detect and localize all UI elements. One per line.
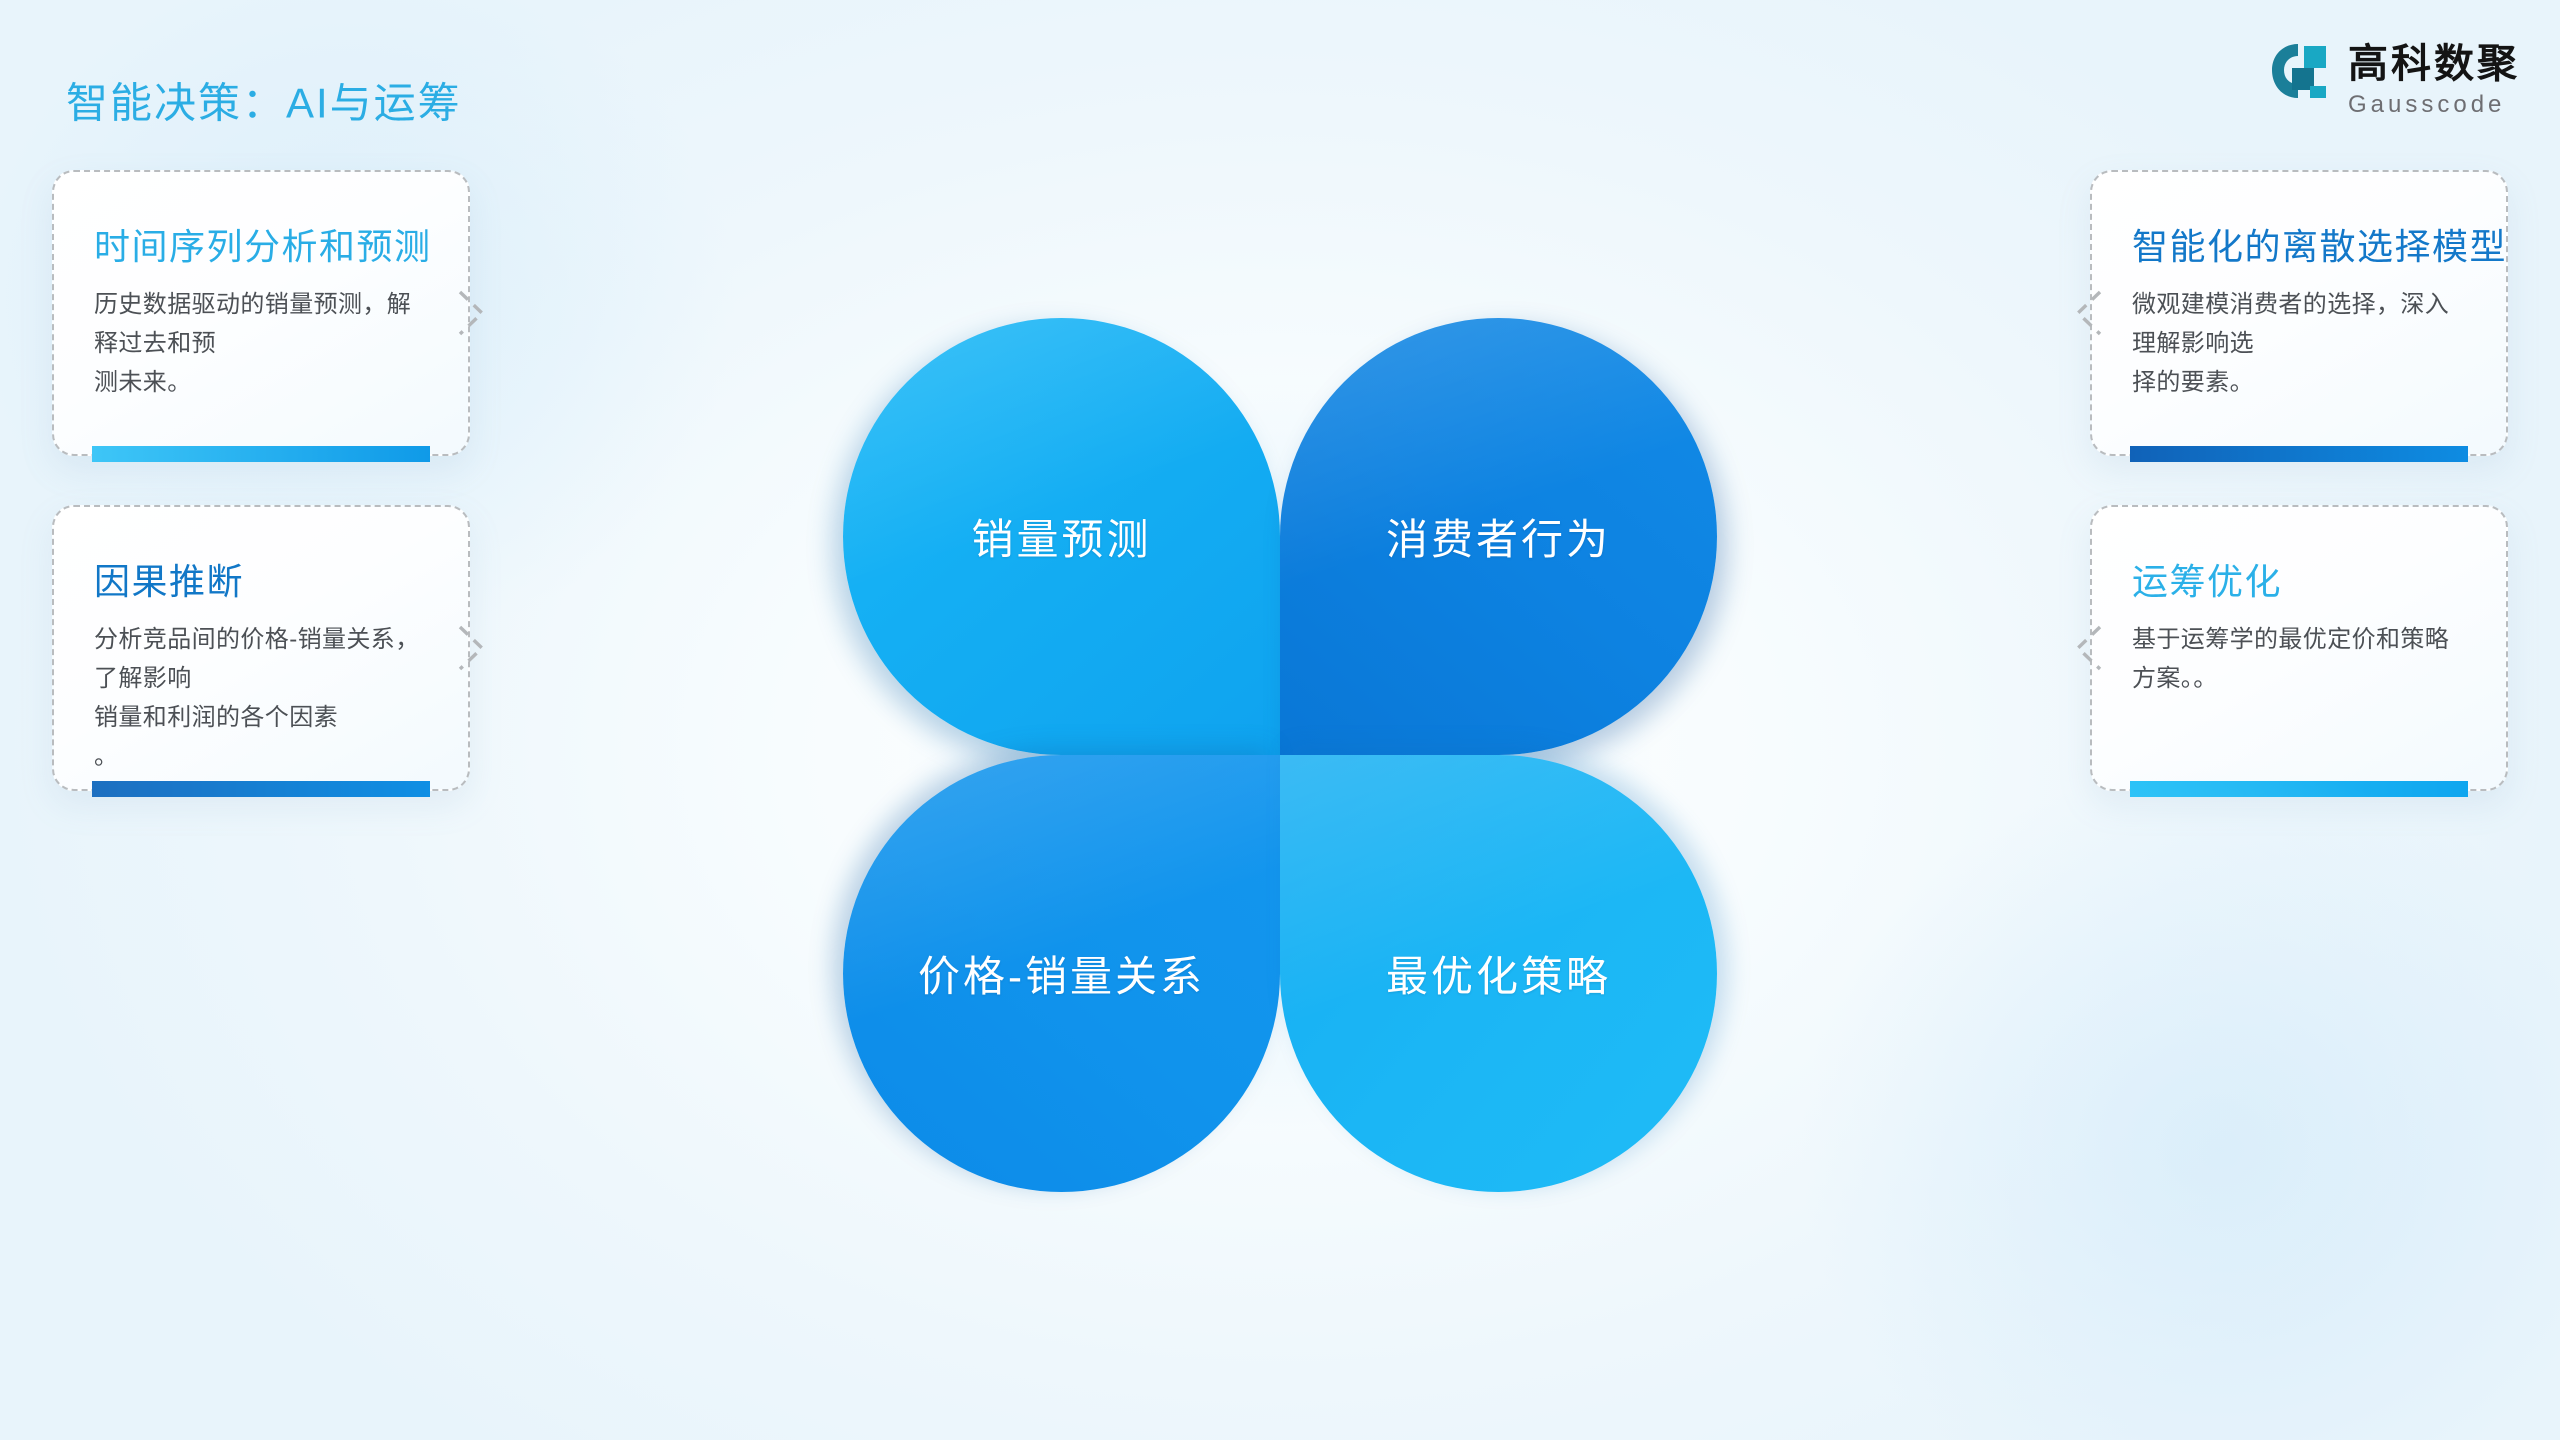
card-discrete-choice-model[interactable]: 智能化的离散选择模型 微观建模消费者的选择，深入理解影响选 择的要素。 <box>2090 170 2508 456</box>
chevron-right-icon <box>454 621 488 675</box>
card-accent-bar <box>92 781 430 797</box>
page-title: 智能决策：AI与运筹 <box>66 70 462 131</box>
gausscode-logo-mark-icon <box>2270 42 2332 102</box>
card-title: 时间序列分析和预测 <box>94 218 428 270</box>
card-body: 分析竞品间的价格-销量关系，了解影响 销量和利润的各个因素 。 <box>94 621 428 777</box>
petal-consumer-behavior[interactable]: 消费者行为 <box>1280 318 1717 755</box>
card-title: 智能化的离散选择模型 <box>2132 218 2466 270</box>
card-operations-optimization[interactable]: 运筹优化 基于运筹学的最优定价和策略方案。。 <box>2090 505 2508 791</box>
card-accent-bar <box>2130 781 2468 797</box>
card-title: 因果推断 <box>94 553 428 605</box>
chevron-right-icon <box>454 286 488 340</box>
slide-canvas: 智能决策：AI与运筹 高科数聚 Gausscode 销量预测 消费者行为 <box>0 0 2560 1440</box>
card-accent-bar <box>92 446 430 462</box>
card-time-series-analysis[interactable]: 时间序列分析和预测 历史数据驱动的销量预测，解释过去和预 测未来。 <box>52 170 470 456</box>
petal-label: 消费者行为 <box>1386 506 1611 567</box>
card-body: 基于运筹学的最优定价和策略方案。。 <box>2132 621 2466 699</box>
petal-label: 销量预测 <box>971 506 1151 567</box>
petal-price-sales-relationship[interactable]: 价格-销量关系 <box>843 755 1280 1192</box>
petal-label: 价格-销量关系 <box>918 943 1205 1004</box>
card-title: 运筹优化 <box>2132 553 2466 605</box>
petal-label: 最优化策略 <box>1386 943 1611 1004</box>
petal-optimization-strategy[interactable]: 最优化策略 <box>1280 755 1717 1192</box>
card-causal-inference[interactable]: 因果推断 分析竞品间的价格-销量关系，了解影响 销量和利润的各个因素 。 <box>52 505 470 791</box>
four-petal-diagram: 销量预测 消费者行为 价格-销量关系 最优化策略 <box>843 318 1717 1192</box>
logo-name-cn: 高科数聚 <box>2348 44 2520 84</box>
card-body: 微观建模消费者的选择，深入理解影响选 择的要素。 <box>2132 286 2466 403</box>
chevron-left-icon <box>2072 286 2106 340</box>
petal-sales-forecast[interactable]: 销量预测 <box>843 318 1280 755</box>
card-accent-bar <box>2130 446 2468 462</box>
chevron-left-icon <box>2072 621 2106 675</box>
brand-logo: 高科数聚 Gausscode <box>2270 42 2520 117</box>
logo-name-en: Gausscode <box>2348 93 2520 117</box>
logo-text-block: 高科数聚 Gausscode <box>2348 42 2520 117</box>
card-body: 历史数据驱动的销量预测，解释过去和预 测未来。 <box>94 286 428 403</box>
